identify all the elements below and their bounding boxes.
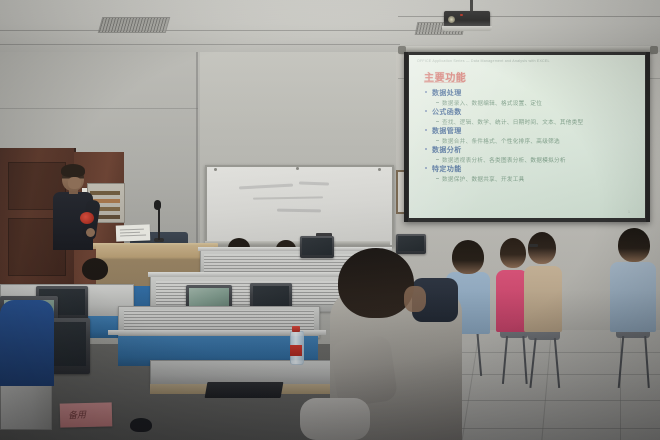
- cubicle-mesh: [124, 310, 314, 330]
- glasses-icon: [529, 244, 538, 247]
- monitor: [396, 234, 426, 254]
- podium-paper: [116, 224, 151, 241]
- sticky-note-text: 备用: [68, 408, 87, 422]
- attendee-head: [452, 240, 484, 274]
- attendee-head: [618, 228, 650, 262]
- keyboard[interactable]: [205, 382, 284, 398]
- whiteboard: [205, 165, 394, 247]
- microphone-icon: [154, 200, 161, 210]
- classroom-photo: OFFICE Application Series — Data Managem…: [0, 0, 660, 440]
- microphone-stem: [158, 206, 160, 240]
- ceiling-line: [0, 44, 400, 45]
- foreground-attendee-sleeve: [300, 398, 370, 440]
- presenter-hair: [61, 164, 85, 177]
- foreground-attendee-head: [338, 248, 414, 318]
- wall-corner: [196, 38, 198, 268]
- bottle-cap: [292, 326, 300, 332]
- attendee-torso: [610, 262, 656, 332]
- foreground-attendee-arm: [330, 334, 399, 408]
- screen-edge: [646, 52, 650, 222]
- wall-seam: [0, 108, 198, 109]
- attendee-head: [82, 258, 108, 280]
- ceiling-line: [0, 30, 420, 31]
- wall-art-stripe: [90, 191, 120, 195]
- attendee-head: [500, 238, 526, 268]
- bottle-label: [290, 345, 302, 356]
- mouse[interactable]: [130, 418, 152, 432]
- attendee-head: [528, 232, 556, 264]
- ceiling-vent: [98, 17, 171, 33]
- ceiling-line: [398, 16, 660, 17]
- presenter-shirt-logo: [80, 212, 94, 224]
- presenter-hand: [86, 228, 95, 237]
- attendee-torso: [524, 266, 562, 332]
- monitor: [300, 236, 334, 258]
- presenter-face: [68, 177, 81, 189]
- projector-lens-icon: [448, 16, 455, 23]
- foreground-attendee-torso: [0, 300, 54, 386]
- projector-base: [442, 26, 492, 31]
- screen-glare: [409, 55, 645, 218]
- screen-roller-cap: [650, 46, 658, 54]
- screen-edge: [404, 52, 408, 222]
- foreground-attendee-ear: [404, 286, 426, 312]
- projector-led-icon: [460, 14, 463, 16]
